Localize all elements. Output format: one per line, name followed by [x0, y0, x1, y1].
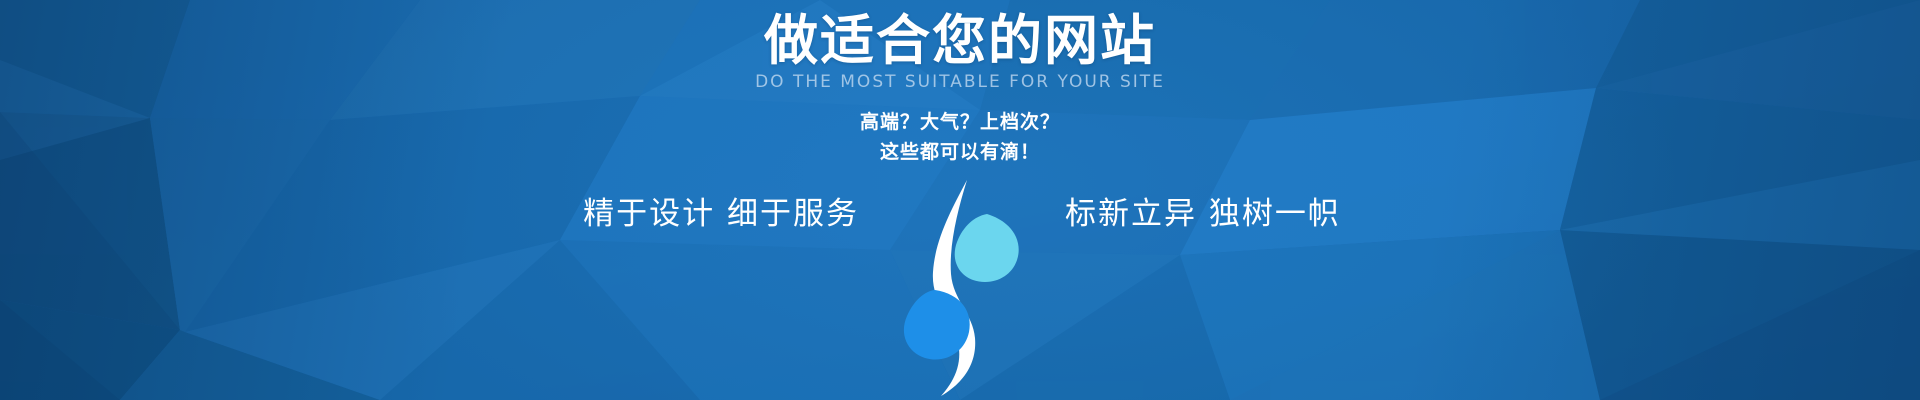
hero-banner: 做适合您的网站 DO THE MOST SUITABLE FOR YOUR SI…	[0, 0, 1920, 400]
banner-headline: 做适合您的网站	[764, 12, 1156, 70]
banner-subtitle-english: DO THE MOST SUITABLE FOR YOUR SITE	[755, 72, 1165, 92]
banner-content: 做适合您的网站 DO THE MOST SUITABLE FOR YOUR SI…	[0, 0, 1920, 400]
banner-tagline-block: 高端？大气？上档次？ 这些都可以有滴！	[860, 108, 1060, 167]
tagline-question: 高端？大气？上档次？	[860, 108, 1060, 137]
tagline-answer: 这些都可以有滴！	[860, 138, 1060, 167]
